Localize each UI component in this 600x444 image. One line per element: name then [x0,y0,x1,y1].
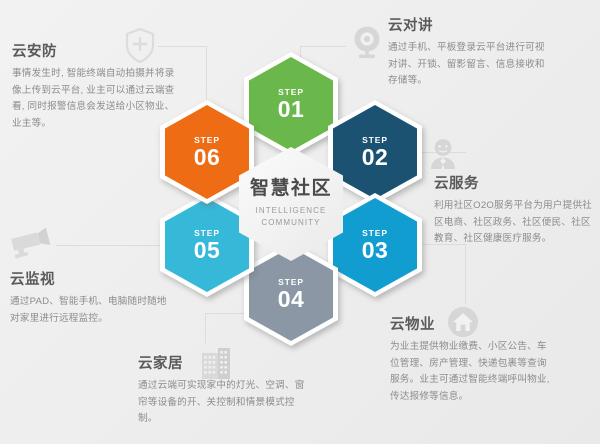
section-cloud-service-body: 利用社区O2O服务平台为用户提供社区电商、社区政务、社区便民、社区教育、社区健康… [434,198,594,248]
section-cloud-monitor-body: 通过PAD、智能手机、电脑随时随地对家里进行远程监控。 [10,294,172,327]
connector-monitor-horizontal [56,245,160,246]
section-cloud-smarthome: 云家居 通过云端可实现家中的灯光、空调、窗帘等设备的开、关控制和情景模式控制。 [138,352,310,428]
webcam-icon [351,25,383,59]
center-title-en-line1: INTELLIGENCE [256,205,327,217]
hexagon-step-03-number: 03 [362,239,389,262]
hexagon-step-02-number: 02 [362,146,389,169]
section-cloud-monitor-title: 云监视 [10,268,172,289]
section-cloud-property: 云物业 为业主提供物业缴费、小区公告、车位管理、房产管理、快递包裹等查询服务。业… [390,313,550,405]
connector-smarthome-vertical [205,313,206,343]
section-cloud-property-body: 为业主提供物业缴费、小区公告、车位管理、房产管理、快递包裹等查询服务。业主可通过… [390,339,550,405]
infographic-canvas: STEP 01 STEP 02 STEP 03 STEP 04 STEP 0 [0,0,600,444]
hexagon-step-04-number: 04 [278,288,305,311]
hexagon-step-05-number: 05 [194,239,221,262]
hexagon-step-01-number: 01 [278,98,305,121]
section-cloud-smarthome-body: 通过云端可实现家中的灯光、空调、窗帘等设备的开、关控制和情景模式控制。 [138,378,310,428]
cctv-camera-icon [8,226,56,262]
center-title-en-line2: COMMUNITY [261,217,320,229]
hexagon-step-01[interactable]: STEP 01 [244,52,338,156]
section-cloud-smarthome-title: 云家居 [138,352,310,373]
section-cloud-service-title: 云服务 [434,172,594,193]
section-cloud-intercom: 云对讲 通过手机、平板登录云平台进行可视对讲、开锁、留影留言、信息接收和存储等。 [388,14,548,90]
section-cloud-monitor: 云监视 通过PAD、智能手机、电脑随时随地对家里进行远程监控。 [10,268,172,327]
hexagon-step-06-number: 06 [194,146,221,169]
section-cloud-intercom-body: 通过手机、平板登录云平台进行可视对讲、开锁、留影留言、信息接收和存储等。 [388,40,548,90]
connector-property-vertical [465,244,466,304]
section-cloud-security-title: 云安防 [12,40,182,61]
section-cloud-property-title: 云物业 [390,313,550,334]
center-title-cn: 智慧社区 [250,179,332,198]
section-cloud-intercom-title: 云对讲 [388,14,548,35]
connector-intercom-horizontal [300,46,346,47]
section-cloud-security: 云安防 事情发生时, 智能终端自动拍摄并将录像上传到云平台, 业主可以通过云端查… [12,40,182,132]
section-cloud-service: 云服务 利用社区O2O服务平台为用户提供社区电商、社区政务、社区便民、社区教育、… [434,172,594,248]
section-cloud-security-body: 事情发生时, 智能终端自动拍摄并将录像上传到云平台, 业主可以通过云端查看, 同… [12,66,182,132]
customer-service-icon [428,138,458,170]
connector-security-vertical [206,46,207,106]
